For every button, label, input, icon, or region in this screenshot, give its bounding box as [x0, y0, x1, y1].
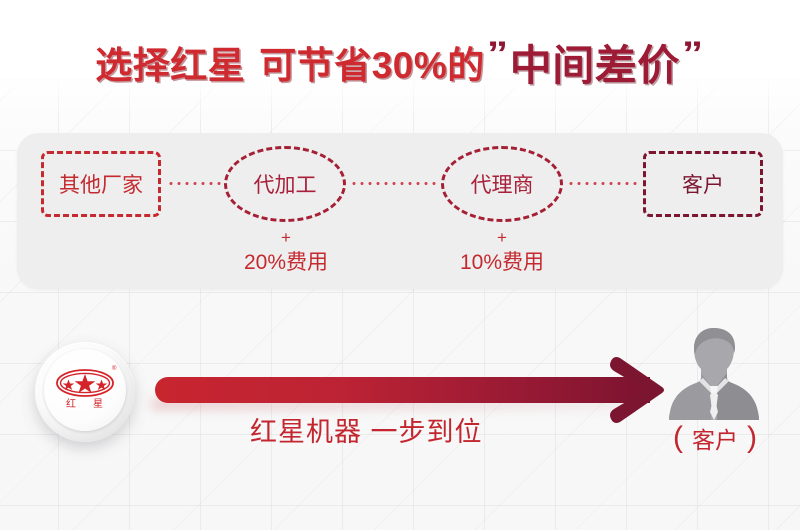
flow-node-label: 其他厂家: [59, 169, 143, 199]
fee-plus-sign: +: [201, 229, 371, 248]
quote-open-mark: ”: [487, 35, 508, 74]
bracket-left: (: [673, 423, 683, 453]
flow-node-other-factory: 其他厂家: [41, 151, 161, 217]
customer-label-group: ( 客户 ): [645, 421, 785, 455]
fee-amount: 10%费用: [417, 251, 587, 274]
logo-char-left: 红: [66, 397, 76, 410]
flow-node-customer: 客户: [643, 151, 763, 217]
cost-chain-panel: 其他厂家 代加工 代理商 客户 + 20%费用 + 10%费用: [17, 133, 783, 289]
flow-connector-3: [567, 182, 640, 185]
logo-mark-icon: ® 红 星: [44, 349, 126, 431]
hongxing-logo-badge: ® 红 星: [35, 342, 135, 442]
direct-arrow-shaft: [155, 377, 650, 403]
fee-amount: 20%费用: [201, 251, 371, 274]
fee-markup-agent: + 10%费用: [417, 229, 587, 274]
tagline-text: 红星机器 一步到位: [250, 410, 570, 449]
fee-plus-sign: +: [417, 229, 587, 248]
headline-part2: 可节省30%的: [259, 35, 485, 89]
fee-markup-oem: + 20%费用: [201, 229, 371, 274]
flow-diagram: 其他厂家 代加工 代理商 客户 + 20%费用 + 10%费用: [17, 133, 783, 289]
headline-part1: 选择红星: [95, 35, 245, 89]
bracket-right: ): [747, 423, 757, 453]
headline-emphasis: 中间差价: [510, 32, 680, 93]
flow-node-agent: 代理商: [441, 146, 563, 222]
flow-connector-2: [350, 182, 438, 185]
businessman-avatar-icon: [663, 320, 765, 420]
flow-node-label: 代加工: [254, 169, 317, 199]
quote-close-mark: ”: [682, 35, 703, 74]
customer-label: 客户: [692, 421, 738, 455]
flow-node-label: 客户: [682, 169, 724, 199]
registered-mark: ®: [112, 365, 117, 372]
headline-banner: 选择红星 可节省30%的 ” 中间差价 ”: [0, 28, 800, 96]
flow-node-oem: 代加工: [224, 146, 346, 222]
logo-char-right: 星: [93, 398, 103, 410]
flow-connector-1: [167, 182, 221, 185]
flow-node-label: 代理商: [471, 169, 534, 199]
